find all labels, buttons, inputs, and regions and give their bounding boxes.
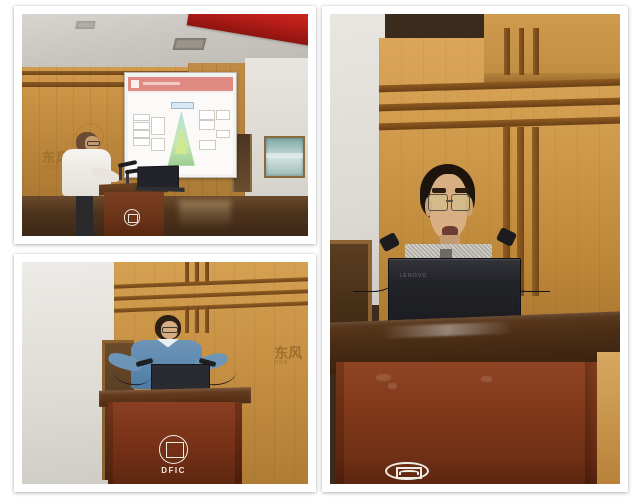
presenter-legs [76,196,93,236]
wall-tooth-trim [519,28,525,75]
wall-pilaster [185,306,189,333]
podium-scuff [481,376,493,382]
slide-box [133,138,150,146]
podium-scuff [376,374,391,382]
photo-collage: 红色横幅 东风 DONGFENG [0,0,642,497]
emblem-dome [399,470,419,475]
wall-logo: 东风 DON [274,346,302,366]
laptop [138,165,180,188]
dongfeng-emblem-icon [159,435,188,464]
laptop-brand-label: LENOVO [399,273,427,279]
projection-screen [124,72,238,178]
wall-pilaster [205,306,209,333]
slide-box [199,140,216,150]
ceiling-vent-icon [76,21,97,29]
eyeglasses-icon [427,194,471,209]
slide-box [151,138,166,151]
eyeglass-bridge [446,200,453,202]
slide-header-bar [128,77,233,92]
wall-tooth-trim [185,262,189,282]
window [264,136,305,178]
slide-box [133,122,150,130]
slide-box [133,130,150,138]
slide-box [199,110,215,119]
speaker-eyebrow-left [432,188,447,193]
podium-logo-label: DFIC [154,466,194,475]
wall-tooth-trim [504,28,510,75]
photo-top-left: 红色横幅 东风 DONGFENG [22,14,308,236]
wall-logo-cn: 东风 [274,346,302,360]
wall-pilaster [195,306,199,333]
background-wall-right [597,352,620,484]
wall-tooth-trim [205,262,209,282]
photo-right: LENOVO Close-up of a speaker wearing gla… [330,14,620,484]
eyeglass-lens-left [428,194,447,211]
slide-box [151,117,166,135]
floor [22,196,308,236]
podium-body [336,362,597,484]
microphone-stem [119,165,121,181]
dongfeng-emblem-icon [385,462,428,480]
slide-box [199,120,215,129]
slide-tag [171,102,194,109]
wall-tooth-trim [195,262,199,282]
wall-tooth-trim [533,28,539,75]
ceiling-vent-icon [172,38,206,50]
slide-box [216,130,231,139]
eyeglasses-icon [87,141,100,146]
wall-logo-en: DON [274,360,302,366]
slide-box [216,110,231,119]
speaker-eyebrow-right [455,188,470,193]
podium-scuff [388,383,397,389]
eyeglasses-icon [162,327,179,333]
photo-bottom-left: 东风 DON DFIC Presenter in a blue shirt st… [22,262,308,484]
eyeglass-lens-right [451,194,470,211]
slide-body [128,93,233,174]
slide-box [133,114,150,122]
